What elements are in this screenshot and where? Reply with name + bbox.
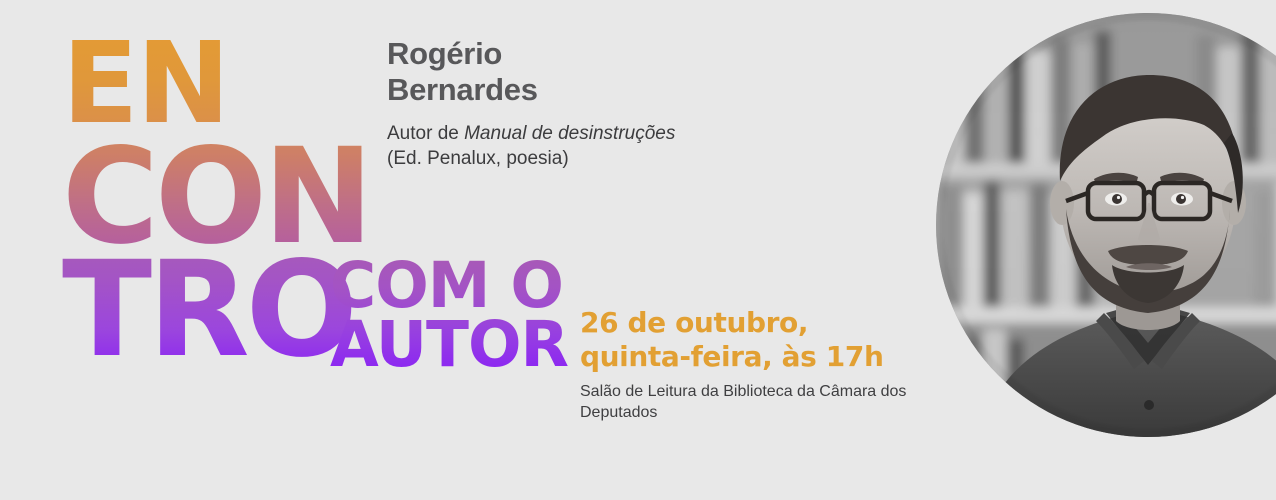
author-desc-prefix: Autor de (387, 123, 464, 144)
wordmark-subline-com-o: COM O (330, 256, 568, 315)
author-block: Rogério Bernardes Autor de Manual de des… (387, 36, 807, 171)
wordmark-subline-autor: AUTOR (330, 315, 568, 374)
wordmark-com-o-autor: COM O AUTOR (330, 256, 568, 374)
event-date: 26 de outubro, quinta-feira, às 17h (580, 306, 980, 373)
book-publisher: (Ed. Penalux, poesia) (387, 146, 807, 171)
event-banner: EN CON TRO COM O AUTOR Rogério Bernardes… (0, 0, 1276, 500)
event-info-block: 26 de outubro, quinta-feira, às 17h Salã… (580, 306, 980, 424)
author-name: Rogério Bernardes (387, 36, 807, 108)
portrait-photo (936, 13, 1276, 437)
author-portrait (936, 13, 1276, 437)
author-description: Autor de Manual de desinstruções (Ed. Pe… (387, 121, 807, 172)
event-venue: Salão de Leitura da Biblioteca da Câmara… (580, 382, 980, 424)
book-title: Manual de desinstruções (464, 123, 675, 144)
wordmark-line-tro: TRO (62, 244, 354, 376)
